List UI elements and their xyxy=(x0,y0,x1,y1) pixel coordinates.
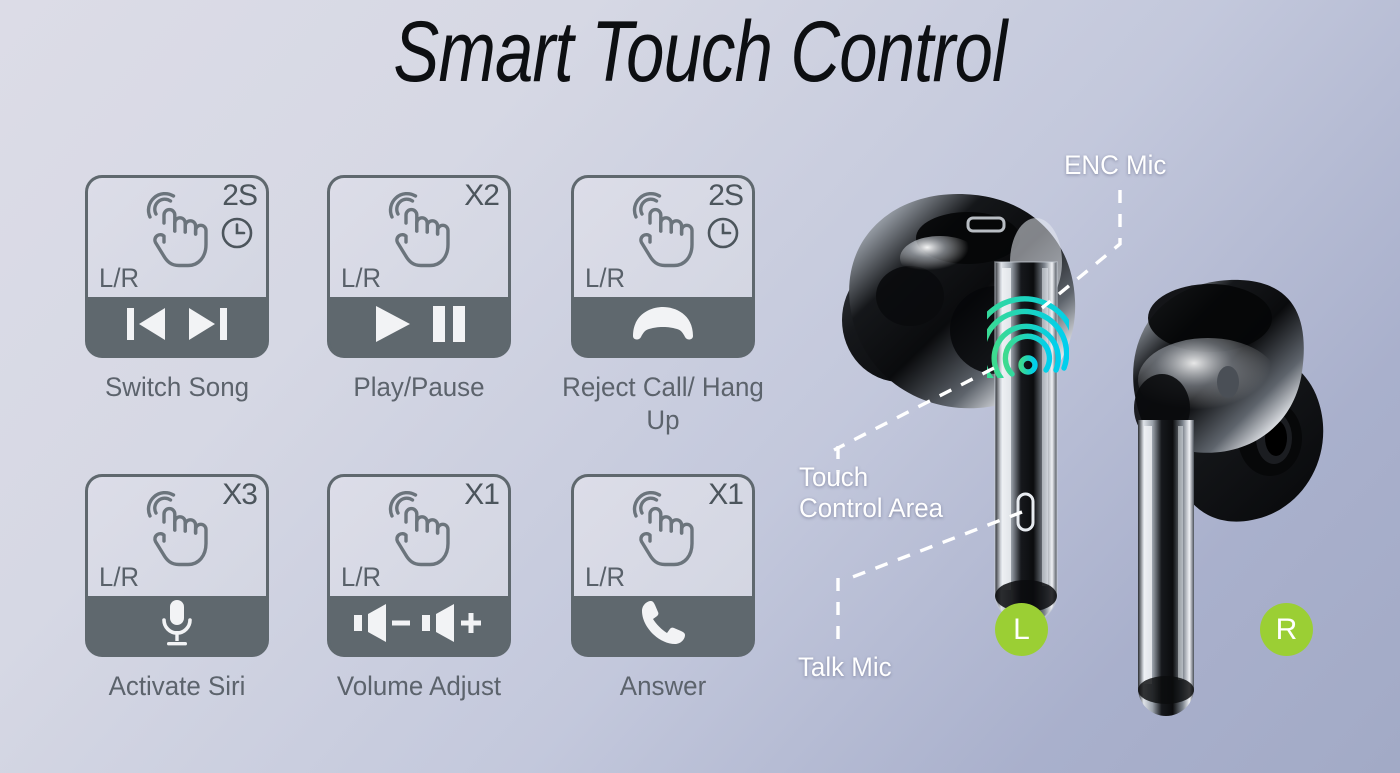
card-caption: Answer xyxy=(546,670,780,703)
card-body: X1 L/R xyxy=(571,474,755,657)
clock-icon xyxy=(706,216,740,255)
left-earbud xyxy=(842,194,1076,623)
badge-left-earbud: L xyxy=(995,603,1048,656)
card-action-section xyxy=(330,596,508,654)
tap-hand-icon xyxy=(626,190,702,279)
lr-label: L/R xyxy=(585,263,625,294)
card-action-section xyxy=(574,596,752,654)
control-card-reject-call[interactable]: 2S L/R xyxy=(571,175,755,358)
next-track-icon xyxy=(185,303,231,350)
card-top-section: 2S L/R xyxy=(574,178,752,297)
badge-right-earbud: R xyxy=(1260,603,1313,656)
tap-hand-icon xyxy=(140,489,216,578)
hang-up-icon xyxy=(625,304,701,349)
microphone-icon xyxy=(157,598,197,653)
control-card-volume-adjust[interactable]: X1 L/R xyxy=(327,474,511,657)
tap-hand-icon xyxy=(626,489,702,578)
card-top-section: X3 L/R xyxy=(88,477,266,596)
control-card-play-pause[interactable]: X2 L/R xyxy=(327,175,511,358)
card-action-section xyxy=(88,297,266,355)
card-action-section xyxy=(88,596,266,654)
repeat-label: 2S xyxy=(222,179,257,213)
earbuds-illustration: ENC Mic Touch Control Area Talk Mic L R xyxy=(790,0,1400,773)
previous-track-icon xyxy=(123,303,169,350)
card-top-section: 2S L/R xyxy=(88,178,266,297)
card-caption: Play/Pause xyxy=(302,371,536,404)
card-top-section: X1 L/R xyxy=(574,477,752,596)
repeat-label: X1 xyxy=(464,478,499,512)
tap-hand-icon xyxy=(382,489,458,578)
repeat-label: X3 xyxy=(222,478,257,512)
repeat-label: X1 xyxy=(708,478,743,512)
card-body: X1 L/R xyxy=(327,474,511,657)
play-icon xyxy=(370,302,414,351)
card-action-section xyxy=(574,297,752,355)
control-card-switch-song[interactable]: 2S L/R xyxy=(85,175,269,358)
tap-hand-icon xyxy=(140,190,216,279)
answer-call-icon xyxy=(638,598,688,653)
card-body: X2 L/R xyxy=(327,175,511,358)
label-enc-mic: ENC Mic xyxy=(1064,150,1166,181)
control-card-answer[interactable]: X1 L/R xyxy=(571,474,755,657)
card-caption: Volume Adjust xyxy=(302,670,536,703)
label-touch-control-area: Touch Control Area xyxy=(799,462,943,524)
card-body: 2S L/R xyxy=(85,175,269,358)
lr-label: L/R xyxy=(585,562,625,593)
card-caption: Switch Song xyxy=(60,371,294,404)
lr-label: L/R xyxy=(341,562,381,593)
card-body: 2S L/R xyxy=(571,175,755,358)
volume-up-icon xyxy=(420,601,486,650)
volume-down-icon xyxy=(352,601,414,650)
repeat-label: 2S xyxy=(708,179,743,213)
card-top-section: X1 L/R xyxy=(330,477,508,596)
pause-icon xyxy=(430,302,468,351)
lr-label: L/R xyxy=(99,263,139,294)
clock-icon xyxy=(220,216,254,255)
lr-label: L/R xyxy=(99,562,139,593)
card-action-section xyxy=(330,297,508,355)
label-talk-mic: Talk Mic xyxy=(798,652,892,683)
control-card-activate-siri[interactable]: X3 L/R xyxy=(85,474,269,657)
tap-hand-icon xyxy=(382,190,458,279)
card-caption: Activate Siri xyxy=(60,670,294,703)
repeat-label: X2 xyxy=(464,179,499,213)
card-top-section: X2 L/R xyxy=(330,178,508,297)
lr-label: L/R xyxy=(341,263,381,294)
card-caption: Reject Call/ Hang Up xyxy=(546,371,780,437)
card-body: X3 L/R xyxy=(85,474,269,657)
